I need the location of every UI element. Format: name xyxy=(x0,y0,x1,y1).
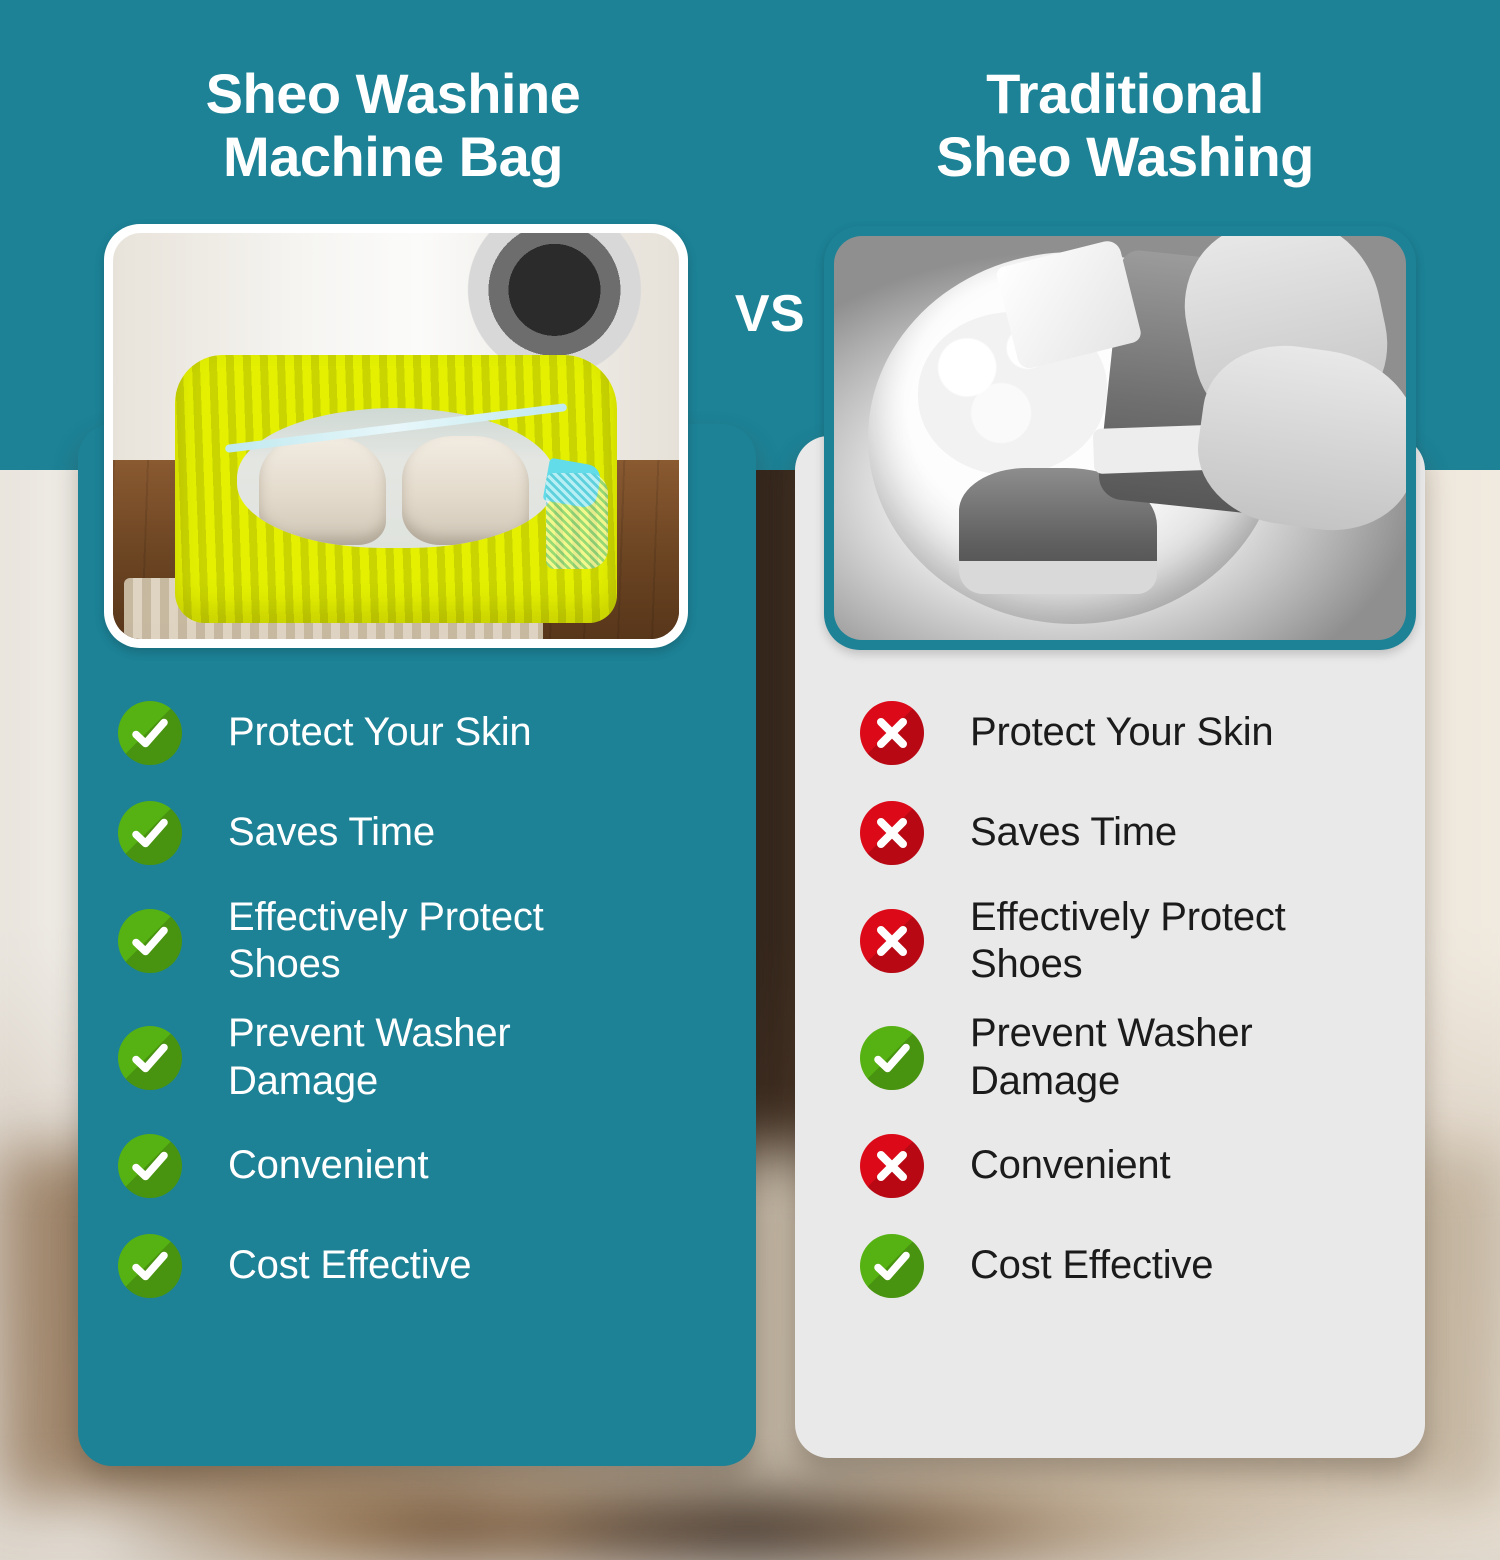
right-column-title: Traditional Sheo Washing xyxy=(830,62,1420,189)
mesh-panel xyxy=(546,473,608,569)
cross-icon xyxy=(860,701,924,765)
checkmark-glyph xyxy=(860,1026,924,1090)
cross-icon xyxy=(860,1134,924,1198)
handwash-scene xyxy=(834,236,1406,640)
sneaker-right xyxy=(402,436,529,545)
feature-label: Effectively Protect Shoes xyxy=(970,894,1286,988)
comparison-photo-handwash xyxy=(824,226,1416,650)
check-icon xyxy=(860,1234,924,1298)
check-icon xyxy=(118,909,182,973)
feature-label: Cost Effective xyxy=(228,1242,471,1289)
sneaker-left xyxy=(259,436,386,545)
feature-row: Effectively Protect Shoes xyxy=(860,894,1420,988)
check-icon xyxy=(860,1026,924,1090)
feature-label: Prevent Washer Damage xyxy=(970,1010,1253,1104)
product-photo-bag xyxy=(104,224,688,648)
feature-row: Convenient xyxy=(118,1127,738,1205)
feature-row: Saves Time xyxy=(118,794,738,872)
feature-label: Prevent Washer Damage xyxy=(228,1010,511,1104)
cross-icon xyxy=(860,909,924,973)
checkmark-glyph xyxy=(118,1026,182,1090)
checkmark-glyph xyxy=(118,1134,182,1198)
feature-row: Protect Your Skin xyxy=(860,694,1420,772)
feature-label: Protect Your Skin xyxy=(228,709,531,756)
cross-icon xyxy=(860,801,924,865)
feature-row: Protect Your Skin xyxy=(118,694,738,772)
feature-row: Cost Effective xyxy=(118,1227,738,1305)
left-feature-list: Protect Your SkinSaves TimeEffectively P… xyxy=(118,694,738,1327)
feature-label: Saves Time xyxy=(228,809,435,856)
sneaker-sole xyxy=(959,561,1157,594)
feature-label: Cost Effective xyxy=(970,1242,1213,1289)
versus-label: VS xyxy=(700,284,840,344)
feature-row: Effectively Protect Shoes xyxy=(118,894,738,988)
feature-label: Effectively Protect Shoes xyxy=(228,894,544,988)
feature-row: Prevent Washer Damage xyxy=(860,1010,1420,1104)
check-icon xyxy=(118,1026,182,1090)
checkmark-glyph xyxy=(118,1234,182,1298)
checkmark-glyph xyxy=(118,701,182,765)
feature-row: Saves Time xyxy=(860,794,1420,872)
bag-scene xyxy=(113,233,679,639)
checkmark-glyph xyxy=(860,1234,924,1298)
check-icon xyxy=(118,701,182,765)
check-icon xyxy=(118,1134,182,1198)
cross-glyph xyxy=(860,909,924,973)
check-icon xyxy=(118,801,182,865)
checkmark-glyph xyxy=(118,801,182,865)
left-column-title: Sheo Washine Machine Bag xyxy=(108,62,678,189)
feature-label: Convenient xyxy=(228,1142,428,1189)
right-feature-list: Protect Your SkinSaves TimeEffectively P… xyxy=(860,694,1420,1327)
feature-label: Saves Time xyxy=(970,809,1177,856)
feature-row: Prevent Washer Damage xyxy=(118,1010,738,1104)
feature-label: Convenient xyxy=(970,1142,1170,1189)
feature-row: Cost Effective xyxy=(860,1227,1420,1305)
feature-label: Protect Your Skin xyxy=(970,709,1273,756)
check-icon xyxy=(118,1234,182,1298)
checkmark-glyph xyxy=(118,909,182,973)
feature-row: Convenient xyxy=(860,1127,1420,1205)
cross-glyph xyxy=(860,1134,924,1198)
laundry-bag xyxy=(175,355,616,623)
cross-glyph xyxy=(860,801,924,865)
cross-glyph xyxy=(860,701,924,765)
